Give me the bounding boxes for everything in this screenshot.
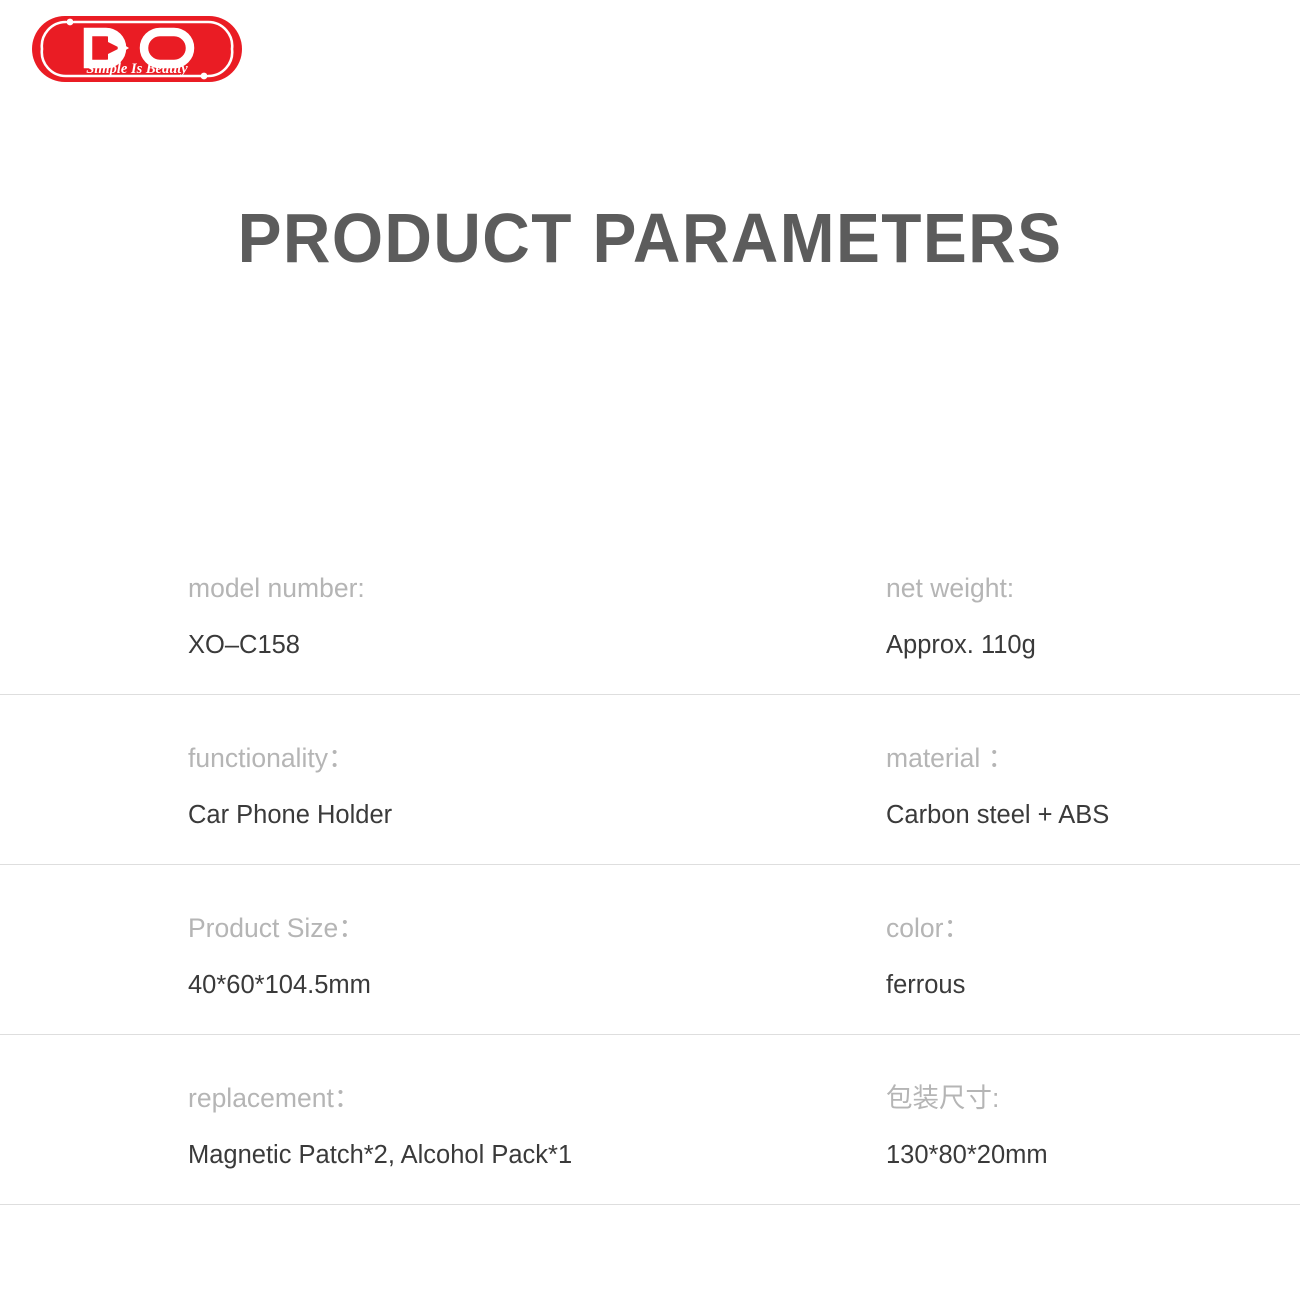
spec-label: 包装尺寸: [886, 1083, 999, 1113]
spec-label: color： [886, 913, 970, 943]
table-row: model number: XO–C158 net weight: Approx… [0, 525, 1300, 695]
xo-logo-icon: Simple Is Beauty [28, 10, 246, 88]
table-row: replacement： Magnetic Patch*2, Alcohol P… [0, 1035, 1300, 1205]
table-row: functionality： Car Phone Holder material… [0, 695, 1300, 865]
spec-value: Carbon steel + ABS [886, 800, 1109, 830]
spec-label: functionality： [188, 743, 354, 773]
table-row: Product Size： 40*60*104.5mm color： ferro… [0, 865, 1300, 1035]
spec-label: replacement： [188, 1083, 360, 1113]
spec-value: Car Phone Holder [188, 800, 392, 830]
spec-label: material ： [886, 743, 1014, 773]
spec-value: Magnetic Patch*2, Alcohol Pack*1 [188, 1140, 572, 1170]
spec-value: Approx. 110g [886, 630, 1036, 660]
brand-logo: Simple Is Beauty [28, 10, 246, 88]
spec-value: XO–C158 [188, 630, 300, 660]
spec-value: ferrous [886, 970, 965, 1000]
spec-label: model number: [188, 573, 365, 603]
spec-value: 40*60*104.5mm [188, 970, 371, 1000]
spec-label: Product Size： [188, 913, 365, 943]
spec-label: net weight: [886, 573, 1014, 603]
spec-value: 130*80*20mm [886, 1140, 1048, 1170]
product-parameters-table: model number: XO–C158 net weight: Approx… [0, 525, 1300, 1205]
brand-tagline: Simple Is Beauty [86, 61, 188, 77]
page-title: PRODUCT PARAMETERS [39, 198, 1261, 278]
